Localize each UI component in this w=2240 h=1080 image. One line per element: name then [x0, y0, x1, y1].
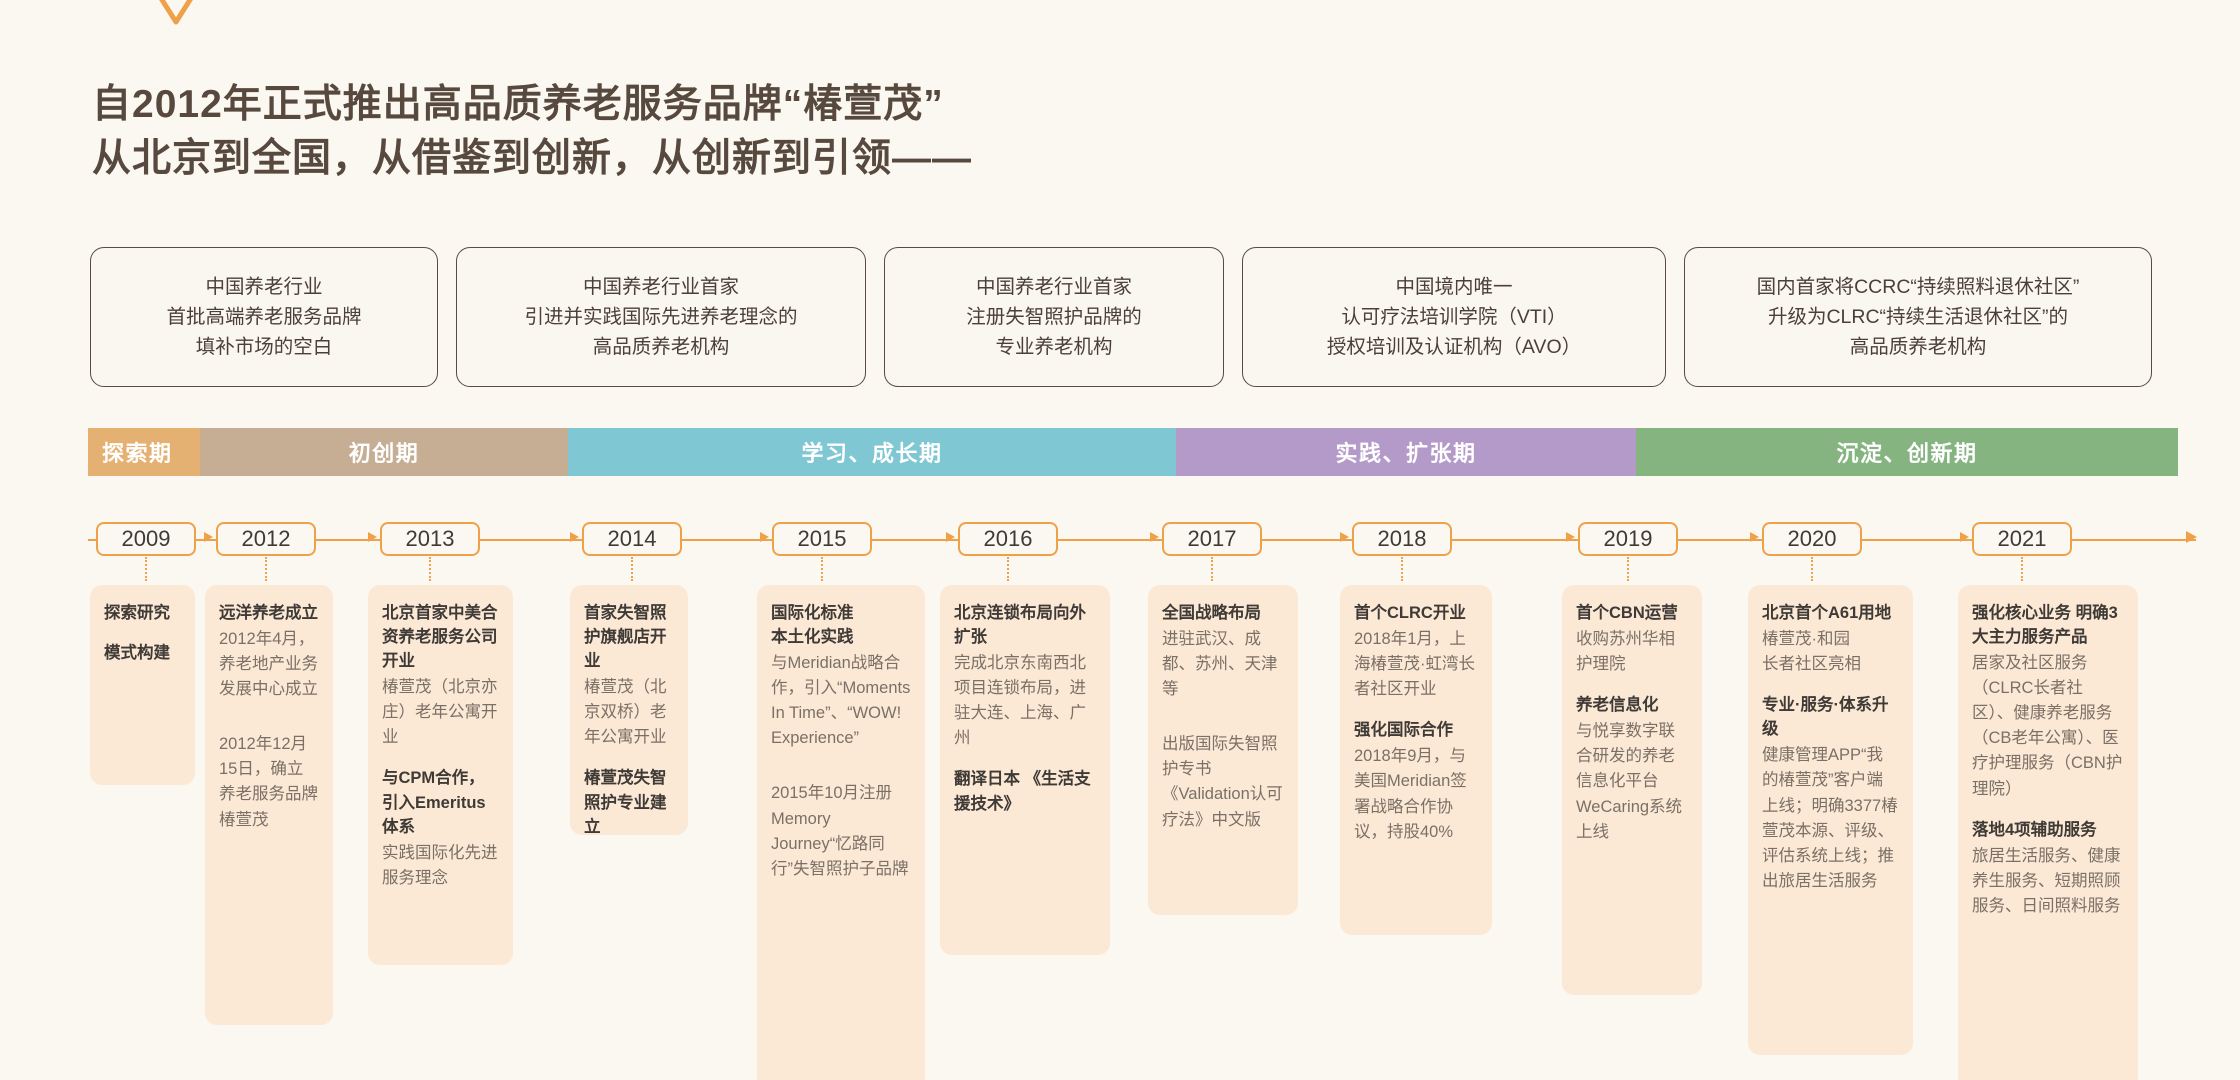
year-connector-arrow-icon	[1960, 532, 1969, 542]
card-line: 升级为CLRC“持续生活退休社区”的	[1768, 302, 2068, 332]
timeline-entry: 2015年10月注册Memory Journey“忆路同行”失智照护子品牌	[771, 767, 911, 881]
timeline-entry: 国际化标准 本土化实践与Meridian战略合作，引入“Moments In T…	[771, 601, 911, 751]
phase-segment: 沉淀、创新期	[1636, 428, 2178, 476]
timeline-column-2014: 首家失智照护旗舰店开业椿萱茂（北京双桥）老年公寓开业椿萱茂失智照护专业建立	[570, 585, 688, 835]
timeline-entry: 首个CBN运营收购苏州华相护理院	[1576, 601, 1688, 677]
timeline-entry: 首个CLRC开业2018年1月，上海椿萱茂·虹湾长者社区开业	[1354, 601, 1478, 702]
card-line: 注册失智照护品牌的	[966, 302, 1142, 332]
card-line: 中国境内唯一	[1395, 272, 1512, 302]
timeline-axis-arrow-icon	[2186, 531, 2197, 543]
year-dotted-connector	[631, 557, 633, 581]
card-line: 中国养老行业	[205, 272, 322, 302]
entry-body: 实践国际化先进服务理念	[382, 841, 499, 891]
phase-label: 实践、扩张期	[1335, 436, 1476, 468]
highlight-cards-row: 中国养老行业首批高端养老服务品牌填补市场的空白中国养老行业首家引进并实践国际先进…	[90, 247, 2152, 387]
entry-spacer	[1162, 718, 1284, 732]
year-label: 2012	[242, 526, 291, 552]
year-label: 2015	[798, 526, 847, 552]
entry-body: 出版国际失智照护专书《Validation认可疗法》中文版	[1162, 732, 1284, 832]
year-connector-arrow-icon	[1750, 532, 1759, 542]
page-title: 自2012年正式推出高品质养老服务品牌“椿萱茂” 从北京到全国，从借鉴到创新，从…	[92, 78, 972, 186]
year-dotted-connector	[1627, 557, 1629, 581]
entry-title: 北京首个A61用地	[1762, 601, 1899, 625]
year-marker-2020[interactable]: 2020	[1762, 522, 1862, 556]
year-marker-2016[interactable]: 2016	[958, 522, 1058, 556]
card-line: 中国养老行业首家	[583, 272, 739, 302]
card-line: 专业养老机构	[995, 332, 1112, 362]
phase-label: 探索期	[102, 436, 173, 468]
entry-body: 完成北京东南西北项目连锁布局，进驻大连、上海、广州	[954, 651, 1096, 751]
entry-body: 椿萱茂·和园 长者社区亮相	[1762, 627, 1899, 677]
timeline-entry: 强化核心业务 明确3大主力服务产品居家及社区服务（CLRC长者社区）、健康养老服…	[1972, 601, 2124, 802]
year-marker-2018[interactable]: 2018	[1352, 522, 1452, 556]
entry-title: 首家失智照护旗舰店开业	[584, 601, 674, 673]
timeline-entry: 模式构建	[104, 641, 181, 665]
timeline-entry: 北京首个A61用地椿萱茂·和园 长者社区亮相	[1762, 601, 1899, 677]
entry-title: 北京连锁布局向外扩张	[954, 601, 1096, 649]
year-connector-arrow-icon	[368, 532, 377, 542]
entry-body: 收购苏州华相护理院	[1576, 627, 1688, 677]
entry-title: 专业·服务·体系升级	[1762, 693, 1899, 741]
entry-title: 养老信息化	[1576, 693, 1688, 717]
timeline-entry: 出版国际失智照护专书《Validation认可疗法》中文版	[1162, 718, 1284, 832]
entry-body: 健康管理APP“我的椿萱茂”客户端上线；明确3377椿萱茂本源、评级、评估系统上…	[1762, 743, 1899, 893]
entry-body: 2012年4月，养老地产业务发展中心成立	[219, 627, 319, 702]
year-connector-arrow-icon	[570, 532, 579, 542]
timeline-entry: 专业·服务·体系升级健康管理APP“我的椿萱茂”客户端上线；明确3377椿萱茂本…	[1762, 693, 1899, 894]
year-connector-arrow-icon	[760, 532, 769, 542]
entry-title: 探索研究	[104, 601, 181, 625]
year-connector-arrow-icon	[1150, 532, 1159, 542]
year-dotted-connector	[429, 557, 431, 581]
card-vti-avo: 中国境内唯一认可疗法培训学院（VTI）授权培训及认证机构（AVO）	[1242, 247, 1666, 387]
year-connector-arrow-icon	[946, 532, 955, 542]
card-line: 引进并实践国际先进养老理念的	[524, 302, 797, 332]
card-line: 高品质养老机构	[593, 332, 730, 362]
phase-segment: 学习、成长期	[568, 428, 1176, 476]
year-marker-2021[interactable]: 2021	[1972, 522, 2072, 556]
timeline-column-2016: 北京连锁布局向外扩张完成北京东南西北项目连锁布局，进驻大连、上海、广州翻译日本 …	[940, 585, 1110, 955]
entry-body: 2015年10月注册Memory Journey“忆路同行”失智照护子品牌	[771, 781, 911, 881]
timeline-entry: 远洋养老成立2012年4月，养老地产业务发展中心成立	[219, 601, 319, 702]
timeline-entry: 首家失智照护旗舰店开业椿萱茂（北京双桥）老年公寓开业	[584, 601, 674, 750]
timeline-column-2015: 国际化标准 本土化实践与Meridian战略合作，引入“Moments In T…	[757, 585, 925, 1080]
year-connector-arrow-icon	[204, 532, 213, 542]
year-marker-2009[interactable]: 2009	[96, 522, 196, 556]
timeline-column-2021: 强化核心业务 明确3大主力服务产品居家及社区服务（CLRC长者社区）、健康养老服…	[1958, 585, 2138, 1080]
page-title-line1: 自2012年正式推出高品质养老服务品牌“椿萱茂”	[92, 78, 972, 132]
entry-title: 模式构建	[104, 641, 181, 665]
timeline-entry: 北京首家中美合资养老服务公司开业椿萱茂（北京亦庄）老年公寓开业	[382, 601, 499, 750]
year-dotted-connector	[1007, 557, 1009, 581]
entry-body: 2018年9月，与美国Meridian签署战略合作协议，持股40%	[1354, 744, 1478, 844]
entry-title: 翻译日本 《生活支援技术》	[954, 767, 1096, 815]
entry-title: 远洋养老成立	[219, 601, 319, 625]
phase-label: 初创期	[349, 436, 420, 468]
year-marker-2015[interactable]: 2015	[772, 522, 872, 556]
entry-title: 全国战略布局	[1162, 601, 1284, 625]
timeline-entry: 2012年12月15日，确立养老服务品牌椿萱茂	[219, 718, 319, 832]
entry-body: 2012年12月15日，确立养老服务品牌椿萱茂	[219, 732, 319, 832]
year-label: 2016	[984, 526, 1033, 552]
timeline-column-2020: 北京首个A61用地椿萱茂·和园 长者社区亮相专业·服务·体系升级健康管理APP“…	[1748, 585, 1913, 1055]
card-line: 认可疗法培训学院（VTI）	[1341, 302, 1566, 332]
timeline-entry: 强化国际合作2018年9月，与美国Meridian签署战略合作协议，持股40%	[1354, 718, 1478, 844]
timeline-column-2009: 探索研究模式构建	[90, 585, 195, 785]
year-marker-2019[interactable]: 2019	[1578, 522, 1678, 556]
timeline-column-2018: 首个CLRC开业2018年1月，上海椿萱茂·虹湾长者社区开业强化国际合作2018…	[1340, 585, 1492, 935]
card-first-brand: 中国养老行业首批高端养老服务品牌填补市场的空白	[90, 247, 438, 387]
entry-body: 椿萱茂（北京亦庄）老年公寓开业	[382, 675, 499, 750]
year-dotted-connector	[1811, 557, 1813, 581]
year-connector-arrow-icon	[1566, 532, 1575, 542]
year-dotted-connector	[1401, 557, 1403, 581]
entry-body: 与悦享数字联合研发的养老信息化平台WeCaring系统上线	[1576, 719, 1688, 844]
timeline-infographic: 自2012年正式推出高品质养老服务品牌“椿萱茂” 从北京到全国，从借鉴到创新，从…	[0, 0, 2240, 1080]
year-marker-2012[interactable]: 2012	[216, 522, 316, 556]
timeline-column-2019: 首个CBN运营收购苏州华相护理院养老信息化与悦享数字联合研发的养老信息化平台We…	[1562, 585, 1702, 995]
timeline-entry: 探索研究	[104, 601, 181, 625]
entry-body: 进驻武汉、成都、苏州、天津等	[1162, 627, 1284, 702]
entry-body: 与Meridian战略合作，引入“Moments In Time”、“WOW! …	[771, 651, 911, 751]
timeline-entry: 与CPM合作，引入Emeritus体系实践国际化先进服务理念	[382, 766, 499, 890]
timeline-column-2012: 远洋养老成立2012年4月，养老地产业务发展中心成立2012年12月15日，确立…	[205, 585, 333, 1025]
card-line: 授权培训及认证机构（AVO）	[1327, 332, 1581, 362]
entry-title: 落地4项辅助服务	[1972, 818, 2124, 842]
year-marker-2017[interactable]: 2017	[1162, 522, 1262, 556]
entry-title: 强化核心业务 明确3大主力服务产品	[1972, 601, 2124, 649]
entry-title: 首个CBN运营	[1576, 601, 1688, 625]
year-label: 2021	[1998, 526, 2047, 552]
phase-segment: 实践、扩张期	[1176, 428, 1636, 476]
year-dotted-connector	[145, 557, 147, 581]
timeline-entry: 椿萱茂失智照护专业建立	[584, 766, 674, 838]
entry-body: 2018年1月，上海椿萱茂·虹湾长者社区开业	[1354, 627, 1478, 702]
timeline-entry: 落地4项辅助服务旅居生活服务、健康养生服务、短期照顾服务、日间照料服务	[1972, 818, 2124, 919]
entry-spacer	[771, 767, 911, 781]
year-marker-2013[interactable]: 2013	[380, 522, 480, 556]
timeline-entry: 北京连锁布局向外扩张完成北京东南西北项目连锁布局，进驻大连、上海、广州	[954, 601, 1096, 751]
year-dotted-connector	[265, 557, 267, 581]
entry-title: 首个CLRC开业	[1354, 601, 1478, 625]
phase-segment: 探索期	[88, 428, 200, 476]
entry-title: 与CPM合作，引入Emeritus体系	[382, 766, 499, 838]
timeline-entry: 翻译日本 《生活支援技术》	[954, 767, 1096, 815]
phase-segment: 初创期	[200, 428, 568, 476]
year-label: 2014	[608, 526, 657, 552]
phase-label: 学习、成长期	[801, 436, 942, 468]
timeline-column-2017: 全国战略布局进驻武汉、成都、苏州、天津等出版国际失智照护专书《Validatio…	[1148, 585, 1298, 915]
entry-body: 椿萱茂（北京双桥）老年公寓开业	[584, 675, 674, 750]
entry-title: 北京首家中美合资养老服务公司开业	[382, 601, 499, 673]
year-label: 2020	[1788, 526, 1837, 552]
card-line: 高品质养老机构	[1850, 332, 1987, 362]
card-line: 首批高端养老服务品牌	[166, 302, 361, 332]
year-dotted-connector	[821, 557, 823, 581]
year-connector-arrow-icon	[1340, 532, 1349, 542]
year-label: 2017	[1188, 526, 1237, 552]
card-line: 国内首家将CCRC“持续照料退休社区”	[1757, 272, 2080, 302]
card-line: 中国养老行业首家	[976, 272, 1132, 302]
year-label: 2013	[406, 526, 455, 552]
phase-bar: 探索期初创期学习、成长期实践、扩张期沉淀、创新期	[88, 428, 2178, 476]
card-first-intl-concept: 中国养老行业首家引进并实践国际先进养老理念的高品质养老机构	[456, 247, 866, 387]
year-marker-2014[interactable]: 2014	[582, 522, 682, 556]
phase-label: 沉淀、创新期	[1836, 436, 1977, 468]
entry-spacer	[219, 718, 319, 732]
entry-title: 强化国际合作	[1354, 718, 1478, 742]
timeline-entry: 全国战略布局进驻武汉、成都、苏州、天津等	[1162, 601, 1284, 702]
entry-body: 旅居生活服务、健康养生服务、短期照顾服务、日间照料服务	[1972, 844, 2124, 919]
year-label: 2019	[1604, 526, 1653, 552]
page-title-line2: 从北京到全国，从借鉴到创新，从创新到引领——	[92, 132, 972, 186]
year-dotted-connector	[2021, 557, 2023, 581]
year-dotted-connector	[1211, 557, 1213, 581]
year-label: 2018	[1378, 526, 1427, 552]
year-label: 2009	[122, 526, 171, 552]
entry-title: 椿萱茂失智照护专业建立	[584, 766, 674, 838]
timeline-entry: 养老信息化与悦享数字联合研发的养老信息化平台WeCaring系统上线	[1576, 693, 1688, 844]
card-line: 填补市场的空白	[196, 332, 333, 362]
card-first-dementia-brand: 中国养老行业首家注册失智照护品牌的专业养老机构	[884, 247, 1224, 387]
entry-title: 国际化标准 本土化实践	[771, 601, 911, 649]
chevron-down-icon	[148, 0, 204, 26]
timeline-column-2013: 北京首家中美合资养老服务公司开业椿萱茂（北京亦庄）老年公寓开业与CPM合作，引入…	[368, 585, 513, 965]
entry-body: 居家及社区服务（CLRC长者社区）、健康养老服务（CB老年公寓）、医疗护理服务（…	[1972, 651, 2124, 801]
card-ccrc-clrc: 国内首家将CCRC“持续照料退休社区”升级为CLRC“持续生活退休社区”的高品质…	[1684, 247, 2152, 387]
